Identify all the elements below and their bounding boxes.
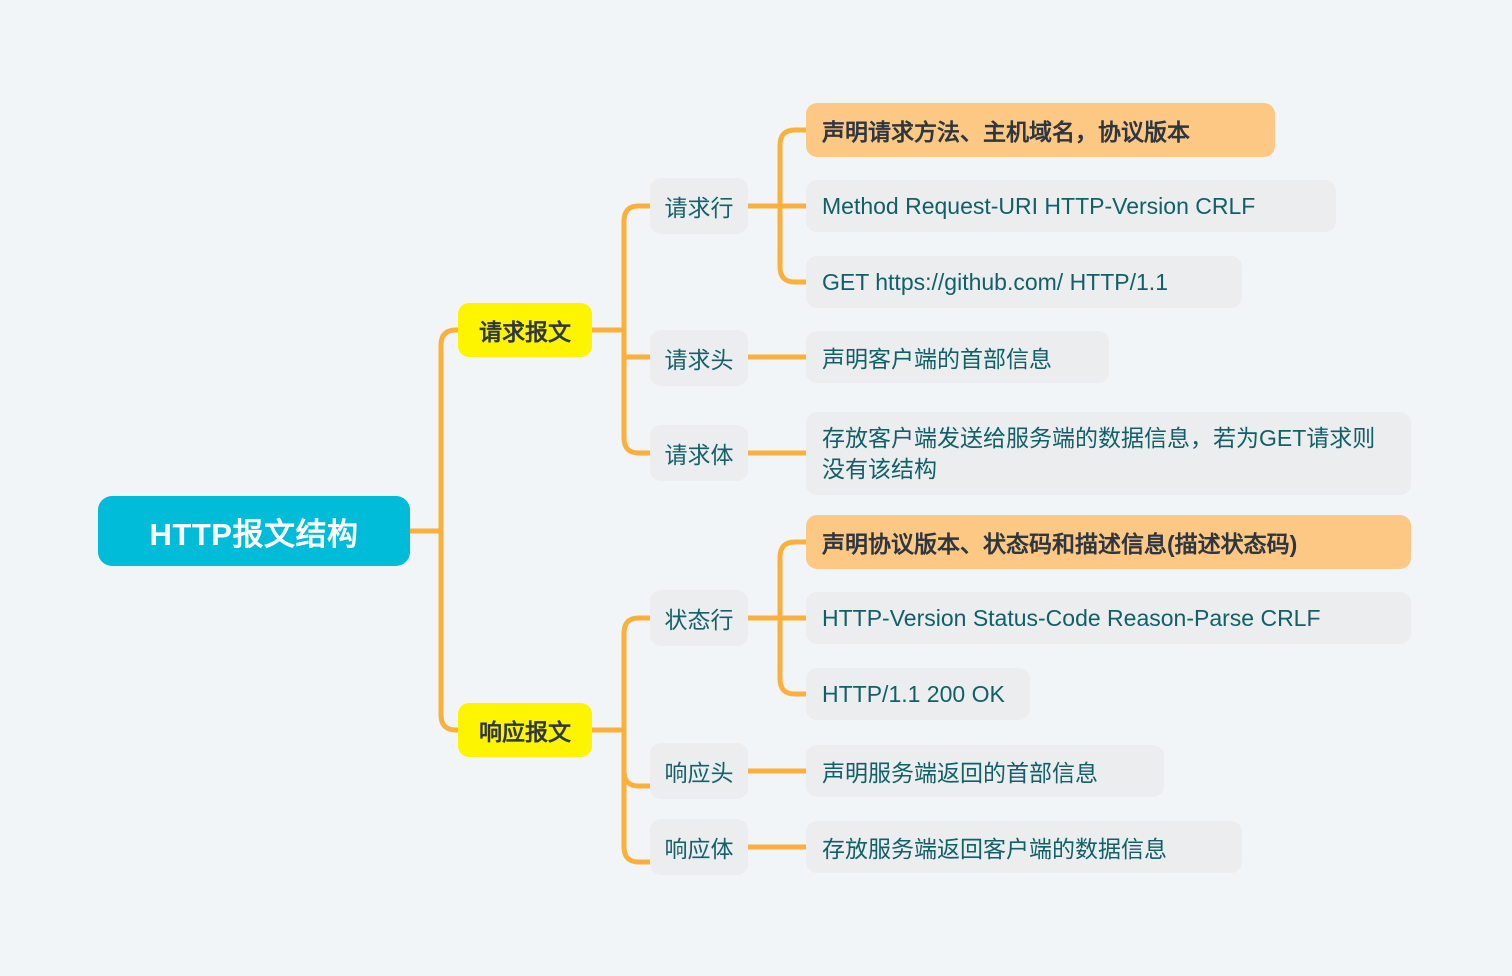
link-request-head (624, 330, 650, 357)
leaf-node-request-body-desc[interactable]: 存放客户端发送给服务端的数据信息，若为GET请求则没有该结构 (806, 412, 1411, 495)
mindmap-canvas: HTTP报文结构 请求报文 响应报文 请求行 请求头 请求体 状态行 响应头 响… (0, 0, 1512, 976)
link-statusline-leaf3 (780, 618, 806, 694)
branch-node-response-message[interactable]: 响应报文 (458, 703, 592, 757)
leaf-node-request-line-example[interactable]: GET https://github.com/ HTTP/1.1 (806, 256, 1242, 308)
child-label: 状态行 (665, 601, 734, 635)
branch-label: 响应报文 (479, 713, 571, 747)
leaf-text: 声明协议版本、状态码和描述信息(描述状态码) (822, 525, 1297, 559)
leaf-text: 声明客户端的首部信息 (822, 340, 1052, 374)
root-node-label: HTTP报文结构 (150, 509, 359, 554)
link-reqline-leaf3 (780, 206, 806, 282)
leaf-node-response-body-desc[interactable]: 存放服务端返回客户端的数据信息 (806, 821, 1242, 873)
link-response-body (624, 730, 650, 862)
link-status-line (624, 618, 650, 730)
leaf-node-status-line-format[interactable]: HTTP-Version Status-Code Reason-Parse CR… (806, 592, 1411, 644)
child-node-request-body[interactable]: 请求体 (650, 425, 748, 481)
leaf-text: Method Request-URI HTTP-Version CRLF (822, 193, 1255, 220)
leaf-text: HTTP-Version Status-Code Reason-Parse CR… (822, 605, 1321, 632)
leaf-text: HTTP/1.1 200 OK (822, 681, 1005, 708)
child-label: 请求头 (665, 341, 734, 375)
leaf-node-request-line-desc[interactable]: 声明请求方法、主机域名，协议版本 (806, 103, 1275, 157)
child-label: 响应头 (665, 754, 734, 788)
link-response-head (624, 730, 650, 786)
link-request-body (624, 330, 650, 453)
link-root-to-response (441, 531, 458, 730)
child-label: 请求体 (665, 436, 734, 470)
leaf-node-status-line-example[interactable]: HTTP/1.1 200 OK (806, 668, 1030, 720)
leaf-node-response-header-desc[interactable]: 声明服务端返回的首部信息 (806, 745, 1164, 797)
leaf-text: 声明服务端返回的首部信息 (822, 754, 1098, 788)
child-node-status-line[interactable]: 状态行 (650, 590, 748, 646)
leaf-text: GET https://github.com/ HTTP/1.1 (822, 269, 1168, 296)
leaf-text: 声明请求方法、主机域名，协议版本 (822, 113, 1190, 147)
root-node[interactable]: HTTP报文结构 (98, 496, 410, 566)
link-request-line (624, 206, 650, 330)
leaf-node-request-header-desc[interactable]: 声明客户端的首部信息 (806, 331, 1109, 383)
branch-label: 请求报文 (479, 313, 571, 347)
leaf-node-request-line-format[interactable]: Method Request-URI HTTP-Version CRLF (806, 180, 1336, 232)
child-node-request-header[interactable]: 请求头 (650, 330, 748, 386)
leaf-text: 存放服务端返回客户端的数据信息 (822, 830, 1167, 864)
child-node-request-line[interactable]: 请求行 (650, 178, 748, 234)
child-label: 请求行 (665, 189, 734, 223)
child-label: 响应体 (665, 830, 734, 864)
child-node-response-header[interactable]: 响应头 (650, 743, 748, 799)
link-reqline-leaf1 (780, 130, 806, 206)
link-statusline-leaf1 (780, 542, 806, 618)
branch-node-request-message[interactable]: 请求报文 (458, 303, 592, 357)
leaf-text: 存放客户端发送给服务端的数据信息，若为GET请求则没有该结构 (822, 423, 1395, 484)
leaf-node-status-line-desc[interactable]: 声明协议版本、状态码和描述信息(描述状态码) (806, 515, 1411, 569)
child-node-response-body[interactable]: 响应体 (650, 819, 748, 875)
link-root-to-request (441, 330, 458, 531)
